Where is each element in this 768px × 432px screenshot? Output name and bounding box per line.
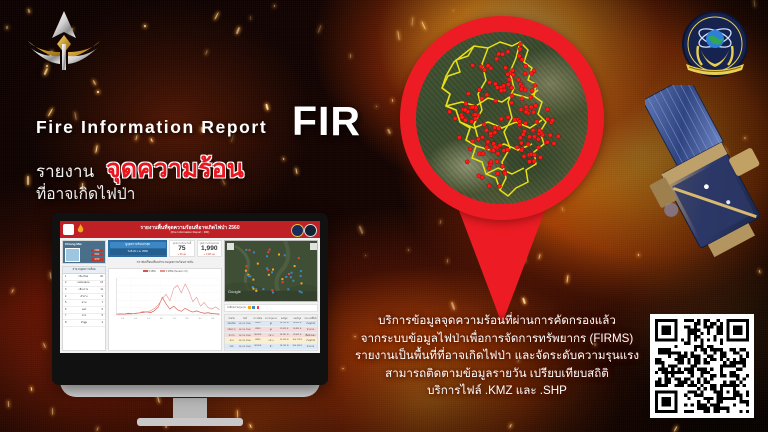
table-cell: ป่าสงวน xyxy=(304,344,317,349)
download-kmz-button[interactable]: KMZ xyxy=(91,249,103,252)
table-row[interactable]: 3เชียงราย11 xyxy=(63,287,105,294)
table-cell: 20 ก.พ. 2560 xyxy=(238,333,251,338)
description-line: บริการไฟล์ .KMZ และ .SHP xyxy=(344,382,650,400)
row-count: 9 xyxy=(102,295,103,299)
map-pin-hotspot-map xyxy=(392,8,612,324)
map-canvas[interactable]: Google xyxy=(225,241,318,301)
table-cell: VIIRS xyxy=(251,338,264,343)
column-header: ละติจูด xyxy=(278,315,291,321)
dashboard-logo-left-icon xyxy=(63,224,74,235)
department-seal-icon xyxy=(672,4,758,90)
data-table-header: จังหวัดวันที่ดาวเทียมความรุนแรงละติจูดลอ… xyxy=(225,315,317,322)
download-pdf-button[interactable]: PDF xyxy=(91,253,103,256)
monitor-chin xyxy=(52,363,328,385)
row-province: เชียงใหม่ xyxy=(78,275,88,279)
table-cell: 20 ก.พ. 2560 xyxy=(238,350,251,351)
line-chart-title: กราฟเปรียบเทียบจำนวนจุดความร้อนรายวัน xyxy=(108,259,222,266)
dashboard-logo-flame-icon xyxy=(76,224,85,235)
row-index: 3 xyxy=(65,288,66,292)
map-pin-imagery xyxy=(416,32,588,204)
table-cell: 20 ก.พ. 2560 xyxy=(238,338,251,343)
qr-code-icon[interactable] xyxy=(655,319,749,413)
desktop-monitor: รายงานพื้นที่จุดความร้อนที่อาจเกิดไฟป่า … xyxy=(52,213,328,385)
table-cell: MODIS xyxy=(251,333,264,338)
monitor-screen: รายงานพื้นที่จุดความร้อนที่อาจเกิดไฟป่า … xyxy=(60,221,320,353)
stats-row: ดูจุดความร้อนล่าสุด วันที่ 20 ก.พ. 2560 … xyxy=(108,240,222,257)
province-table-header: จำนวนจุดความร้อน xyxy=(63,267,105,274)
table-cell: สูง xyxy=(264,322,277,327)
svg-text:ม.ค.: ม.ค. xyxy=(160,316,164,319)
qr-code-panel[interactable] xyxy=(650,314,754,418)
table-cell: 99.491 E xyxy=(291,333,304,338)
description-line: สามารถติดตามข้อมูลรายวัน เปรียบเทียบสถิต… xyxy=(344,365,650,383)
title-thai-sub: ที่อาจเกิดไฟป่า xyxy=(36,181,135,206)
download-shp-button[interactable]: SHP xyxy=(91,258,103,261)
date-selector-panel[interactable]: ดูจุดความร้อนล่าสุด วันที่ 20 ก.พ. 2560 xyxy=(108,240,167,257)
table-cell: ป่าอนุรักษ์ xyxy=(304,322,317,327)
column-header: ดาวเทียม xyxy=(251,315,264,321)
satellite-illustration xyxy=(645,85,768,265)
line-chart: ปี 2560 ปี 2559 (ย้อนหลัง 1 ปี) ต.ค.พ.ย.… xyxy=(108,268,222,351)
table-cell: ต่ำ xyxy=(264,350,277,351)
row-count: 6 xyxy=(102,308,103,312)
svg-text:พ.ค.: พ.ค. xyxy=(211,315,215,319)
table-row[interactable]: 1เชียงใหม่20 xyxy=(63,274,105,281)
table-cell: 19.911 N xyxy=(278,327,291,332)
legend-label: ปี 2559 (ย้อนหลัง 1 ปี) xyxy=(166,271,188,273)
row-index: 7 xyxy=(65,314,66,318)
hotspot-data-table[interactable]: จังหวัดวันที่ดาวเทียมความรุนแรงละติจูดลอ… xyxy=(224,314,318,351)
column-header: วันที่ xyxy=(238,315,251,321)
title-thai-highlight: จุดความร้อน xyxy=(106,155,244,183)
table-cell: พื้นที่เกษตร xyxy=(304,333,317,338)
table-cell: 20 ก.พ. 2560 xyxy=(238,322,251,327)
dashboard-badge-icon xyxy=(304,224,317,237)
monitor-neck xyxy=(173,398,207,420)
data-table-body[interactable]: เชียงใหม่20 ก.พ. 2560VIIRSสูง18.745 N98.… xyxy=(225,322,317,351)
table-cell: กลาง xyxy=(264,338,277,343)
row-count: 13 xyxy=(100,281,103,285)
table-cell: 18.142 N xyxy=(278,344,291,349)
table-cell: ตาก xyxy=(225,350,238,351)
poster-canvas: Fire Information Report FIR รายงานจุดควา… xyxy=(0,0,768,432)
province-table-rows: 1เชียงใหม่202แม่ฮ่องสอน133เชียงราย114ลำป… xyxy=(63,274,105,327)
table-row[interactable]: 2แม่ฮ่องสอน13 xyxy=(63,281,105,288)
province-ranking-table: จำนวนจุดความร้อน 1เชียงใหม่202แม่ฮ่องสอน… xyxy=(62,266,106,351)
row-count: 11 xyxy=(100,288,103,292)
latest-hotspot-button[interactable]: ดูจุดความร้อนล่าสุด xyxy=(110,242,166,249)
row-count: 7 xyxy=(102,301,103,305)
table-cell: สูง xyxy=(264,327,277,332)
svg-text:พ.ย.: พ.ย. xyxy=(134,315,138,319)
row-province: ลำพูน xyxy=(81,321,87,325)
table-row[interactable]: 7ตาก5 xyxy=(63,314,105,321)
description-block: บริการข้อมูลจุดความร้อนที่ผ่านการคัดกรอง… xyxy=(344,312,650,400)
table-cell: 100.772 E xyxy=(291,338,304,343)
table-row[interactable]: 5น่าน7 xyxy=(63,300,105,307)
dashboard-seal-icon xyxy=(291,224,304,237)
svg-text:มี.ค.: มี.ค. xyxy=(185,315,189,319)
download-panel: Chiang Mai KMZ PDF SHP xyxy=(62,240,106,264)
svg-text:ธ.ค.: ธ.ค. xyxy=(147,316,151,319)
report-date-label[interactable]: วันที่ 20 ก.พ. 2560 xyxy=(110,249,166,255)
table-cell: แพร่ xyxy=(225,344,238,349)
table-cell: VIIRS xyxy=(251,322,264,327)
table-cell: 16.872 N xyxy=(278,350,291,351)
dashboard-left-column: Chiang Mai KMZ PDF SHP จำนวนจุดความร้อน … xyxy=(62,240,106,351)
svg-text:Google: Google xyxy=(228,289,242,294)
table-cell: ต่ำ xyxy=(264,344,277,349)
layer-preview-icon xyxy=(65,248,80,262)
table-cell: เชียงราย xyxy=(225,327,238,332)
row-province: ตาก xyxy=(82,314,87,318)
row-index: 2 xyxy=(65,281,66,285)
dashboard-right-column: Google ระดับความรุนแรง : จังหวัดวันที่ดา… xyxy=(224,240,318,351)
title-acronym: FIR xyxy=(292,101,361,142)
line-chart-plot: ต.ค.พ.ย.ธ.ค.ม.ค.ก.พ.มี.ค.เม.ย.พ.ค. xyxy=(109,274,221,320)
dashboard-body: Chiang Mai KMZ PDF SHP จำนวนจุดความร้อน … xyxy=(60,238,320,353)
table-cell: 98.932 E xyxy=(291,322,304,327)
stat-delta: + 20 จุด xyxy=(170,253,193,257)
row-index: 5 xyxy=(65,301,66,305)
column-header: ลองจิจูด xyxy=(291,315,304,321)
hotspot-markers xyxy=(416,32,588,204)
table-cell: ลำปาง xyxy=(225,333,238,338)
map-severity-legend: ระดับความรุนแรง : xyxy=(224,304,318,312)
stat-delta: + 1,915 จุด xyxy=(198,253,221,257)
table-cell: ป่าอนุรักษ์ xyxy=(304,350,317,351)
table-cell: 100.141 E xyxy=(291,344,304,349)
stat-value: 75 xyxy=(170,246,193,253)
row-province: เชียงราย xyxy=(79,288,88,292)
hotspot-map-widget[interactable]: Google xyxy=(224,240,318,302)
title-english: Fire Information Report xyxy=(36,117,267,138)
description-line: รายงานเป็นพื้นที่ที่อาจเกิดไฟป่า และจัดร… xyxy=(344,347,650,365)
row-index: 8 xyxy=(65,321,66,325)
table-cell: ป่าสงวน xyxy=(304,327,317,332)
row-index: 4 xyxy=(65,295,66,299)
table-cell: 18.745 N xyxy=(278,322,291,327)
table-row[interactable]: 8ลำพูน4 xyxy=(63,320,105,327)
table-row[interactable]: 6แพร่6 xyxy=(63,307,105,314)
row-count: 5 xyxy=(102,314,103,318)
table-cell: VIIRS xyxy=(251,350,264,351)
table-cell: 20 ก.พ. 2560 xyxy=(238,327,251,332)
dashboard-title: รายงานพื้นที่จุดความร้อนที่อาจเกิดไฟป่า … xyxy=(140,225,239,235)
row-province: ลำปาง xyxy=(80,295,87,299)
table-cell: กลาง xyxy=(264,333,277,338)
svg-text:ต.ค.: ต.ค. xyxy=(121,316,125,319)
row-index: 6 xyxy=(65,308,66,312)
row-province: แพร่ xyxy=(82,308,87,312)
stat-value: 1,990 xyxy=(198,246,221,253)
row-index: 1 xyxy=(65,275,66,279)
download-panel-title: Chiang Mai xyxy=(65,242,82,246)
table-cell: MODIS xyxy=(251,344,264,349)
fir-dashboard: รายงานพื้นที่จุดความร้อนที่อาจเกิดไฟป่า … xyxy=(60,221,320,353)
monitor-base xyxy=(137,418,243,426)
table-row[interactable]: 4ลำปาง9 xyxy=(63,294,105,301)
table-cell: 19.109 N xyxy=(278,338,291,343)
column-header: จังหวัด xyxy=(225,315,238,321)
table-cell: 99.125 E xyxy=(291,350,304,351)
row-province: น่าน xyxy=(82,301,87,305)
table-cell: เชียงใหม่ xyxy=(225,322,238,327)
dashboard-header: รายงานพื้นที่จุดความร้อนที่อาจเกิดไฟป่า … xyxy=(60,221,320,238)
table-row[interactable]: ตาก20 ก.พ. 2560VIIRSต่ำ16.872 N99.125 Eป… xyxy=(225,350,317,351)
table-cell: 18.287 N xyxy=(278,333,291,338)
svg-text:เม.ย.: เม.ย. xyxy=(198,316,202,319)
table-cell: 99.831 E xyxy=(291,327,304,332)
column-header: ประเภทพื้นที่ xyxy=(304,315,317,321)
description-line: บริการข้อมูลจุดความร้อนที่ผ่านการคัดกรอง… xyxy=(344,312,650,330)
stat-card-cumulative: จุดความร้อนสะสม 1,990 + 1,915 จุด xyxy=(197,240,222,257)
agency-emblem-icon xyxy=(26,8,102,74)
legend-label: ปี 2560 xyxy=(149,271,156,273)
svg-text:ก.พ.: ก.พ. xyxy=(173,315,177,319)
stat-card-today: จุดความร้อนวันนี้ 75 + 20 จุด xyxy=(169,240,194,257)
table-cell: 20 ก.พ. 2560 xyxy=(238,344,251,349)
title-thai-prefix: รายงาน xyxy=(36,162,94,181)
table-cell: น่าน xyxy=(225,338,238,343)
column-header: ความรุนแรง xyxy=(264,315,277,321)
description-line: จากระบบข้อมูลไฟป่าเพื่อการจัดการทรัพยากร… xyxy=(344,330,650,348)
dashboard-center-column: ดูจุดความร้อนล่าสุด วันที่ 20 ก.พ. 2560 … xyxy=(108,240,222,351)
table-cell: VIIRS xyxy=(251,327,264,332)
table-cell: ป่าอนุรักษ์ xyxy=(304,338,317,343)
row-province: แม่ฮ่องสอน xyxy=(77,281,89,285)
dashboard-subtitle-text: (Fire Information Report : FIR) xyxy=(140,231,239,235)
row-count: 20 xyxy=(100,275,103,279)
map-legend-label: ระดับความรุนแรง : xyxy=(227,306,248,309)
row-count: 4 xyxy=(102,321,103,325)
